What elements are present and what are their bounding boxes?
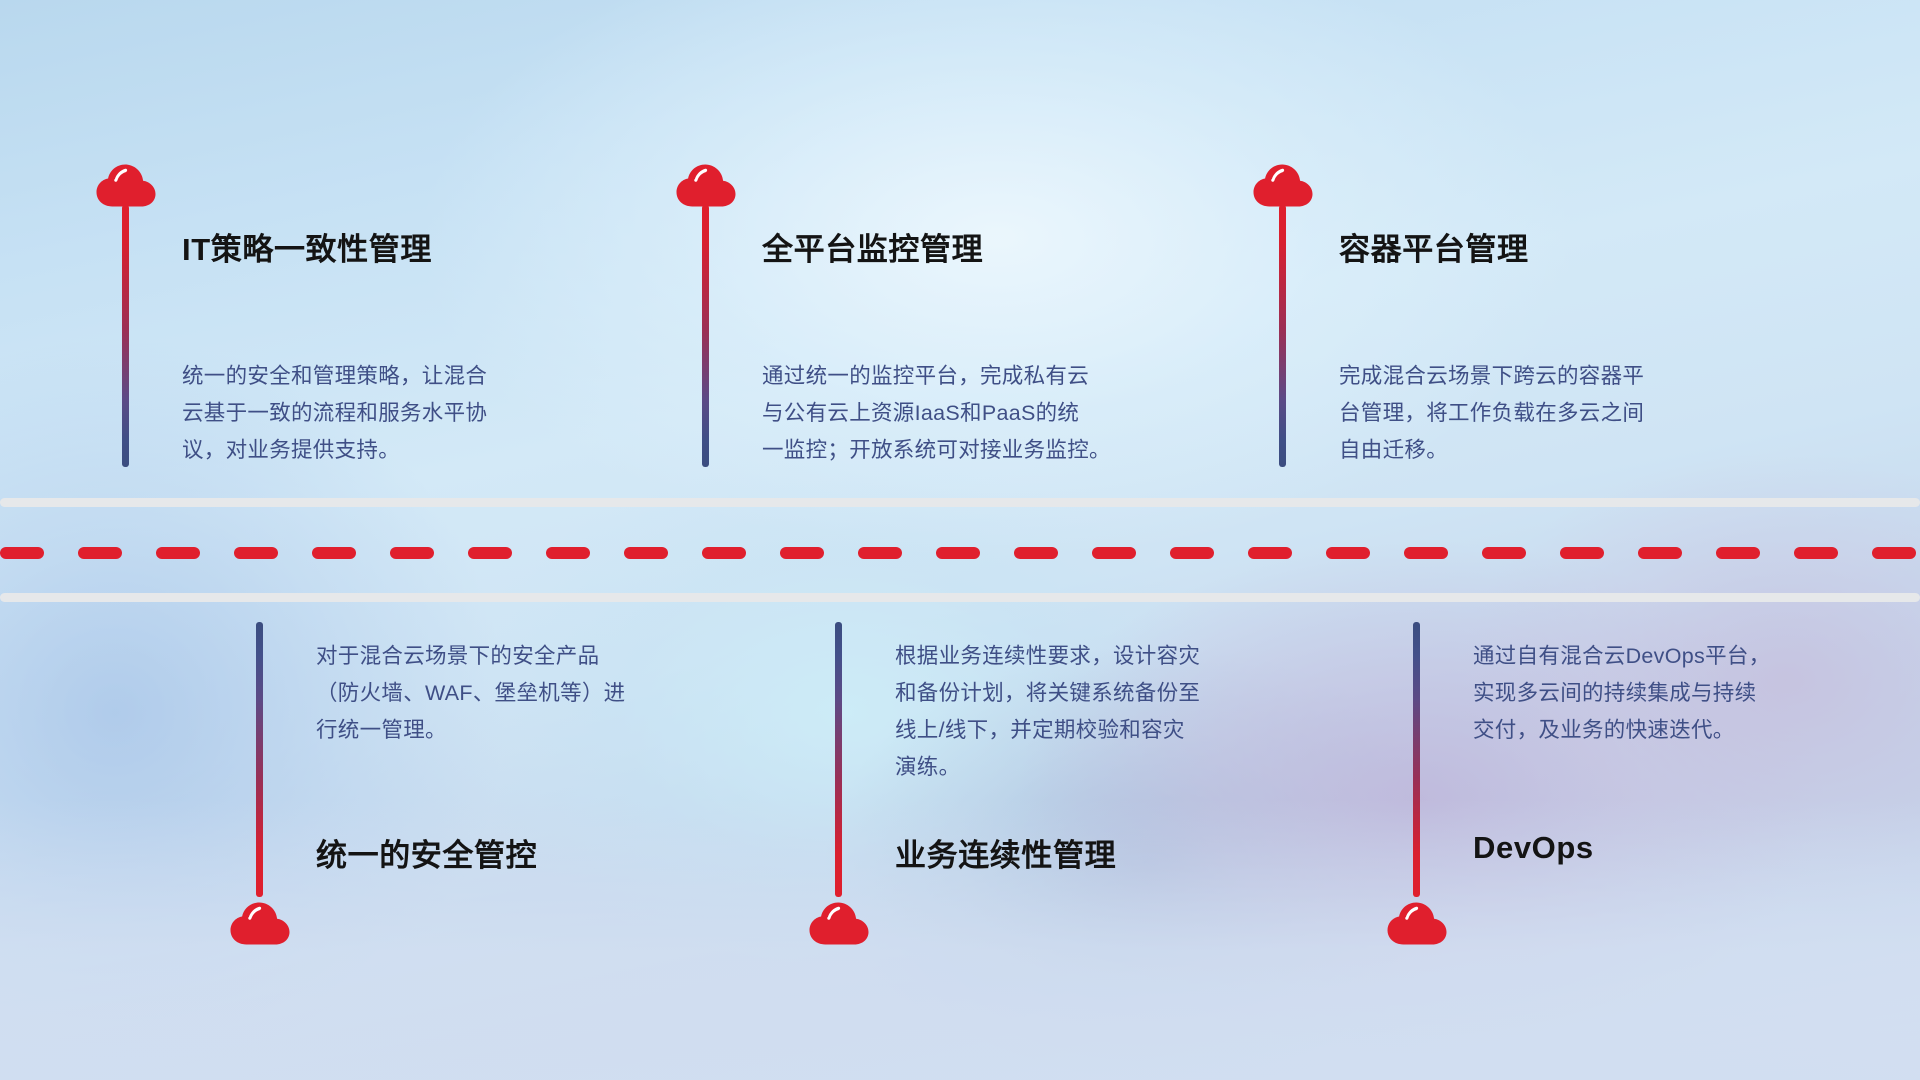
divider-dash bbox=[390, 547, 434, 559]
cloud-icon bbox=[1386, 898, 1448, 946]
divider-dash bbox=[468, 547, 512, 559]
card-heading: IT策略一致性管理 bbox=[182, 224, 432, 269]
divider-dash bbox=[1092, 547, 1136, 559]
divider-dash bbox=[1482, 547, 1526, 559]
body-line: 与公有云上资源IaaS和PaaS的统 bbox=[762, 395, 1102, 432]
divider-dash bbox=[1560, 547, 1604, 559]
card-body: 对于混合云场景下的安全产品 （防火墙、WAF、堡垒机等）进 行统一管理。 bbox=[316, 638, 656, 749]
cloud-icon bbox=[1252, 160, 1314, 208]
divider-dash bbox=[1638, 547, 1682, 559]
card-heading: 统一的安全管控 bbox=[316, 830, 537, 875]
connector-stem bbox=[835, 622, 842, 897]
card-body: 通过统一的监控平台，完成私有云 与公有云上资源IaaS和PaaS的统 一监控；开… bbox=[762, 358, 1102, 469]
connector-stem bbox=[256, 622, 263, 897]
card-body: 根据业务连续性要求，设计容灾 和备份计划，将关键系统备份至 线上/线下，并定期校… bbox=[895, 638, 1235, 786]
body-line: 和备份计划，将关键系统备份至 bbox=[895, 675, 1235, 712]
divider-dash bbox=[1326, 547, 1370, 559]
body-line: 通过统一的监控平台，完成私有云 bbox=[762, 358, 1102, 395]
divider-dash bbox=[312, 547, 356, 559]
divider-dash bbox=[546, 547, 590, 559]
body-line: 演练。 bbox=[895, 749, 1235, 786]
body-line: 台管理，将工作负载在多云之间 bbox=[1339, 395, 1679, 432]
body-line: 对于混合云场景下的安全产品 bbox=[316, 638, 656, 675]
connector-stem bbox=[702, 205, 709, 467]
body-line: 通过自有混合云DevOps平台， bbox=[1473, 638, 1813, 675]
card-body: 通过自有混合云DevOps平台， 实现多云间的持续集成与持续 交付，及业务的快速… bbox=[1473, 638, 1813, 749]
divider-dash bbox=[936, 547, 980, 559]
body-line: 云基于一致的流程和服务水平协 bbox=[182, 395, 522, 432]
body-line: 根据业务连续性要求，设计容灾 bbox=[895, 638, 1235, 675]
body-line: 行统一管理。 bbox=[316, 712, 656, 749]
divider-dash bbox=[1014, 547, 1058, 559]
card-body: 完成混合云场景下跨云的容器平 台管理，将工作负载在多云之间 自由迁移。 bbox=[1339, 358, 1679, 469]
divider-dash bbox=[1716, 547, 1760, 559]
body-line: 实现多云间的持续集成与持续 bbox=[1473, 675, 1813, 712]
divider-dash bbox=[1872, 547, 1916, 559]
cloud-icon bbox=[808, 898, 870, 946]
body-line: 一监控；开放系统可对接业务监控。 bbox=[762, 432, 1102, 469]
divider-dash bbox=[624, 547, 668, 559]
divider-dash bbox=[1170, 547, 1214, 559]
body-line: 完成混合云场景下跨云的容器平 bbox=[1339, 358, 1679, 395]
divider-rule-top bbox=[0, 498, 1920, 507]
divider-dash bbox=[156, 547, 200, 559]
infographic-canvas: IT策略一致性管理 统一的安全和管理策略，让混合 云基于一致的流程和服务水平协 … bbox=[0, 0, 1920, 1080]
card-heading: DevOps bbox=[1473, 830, 1594, 866]
divider-dash bbox=[1248, 547, 1292, 559]
card-heading: 全平台监控管理 bbox=[762, 224, 983, 269]
divider-dash bbox=[1794, 547, 1838, 559]
body-line: 议，对业务提供支持。 bbox=[182, 432, 522, 469]
divider-rule-bottom bbox=[0, 593, 1920, 602]
connector-stem bbox=[1279, 205, 1286, 467]
card-heading: 容器平台管理 bbox=[1339, 224, 1529, 269]
section-divider bbox=[0, 498, 1920, 602]
divider-dash bbox=[234, 547, 278, 559]
body-line: 交付，及业务的快速迭代。 bbox=[1473, 712, 1813, 749]
card-heading: 业务连续性管理 bbox=[895, 830, 1116, 875]
body-line: 自由迁移。 bbox=[1339, 432, 1679, 469]
divider-dash bbox=[780, 547, 824, 559]
divider-dash bbox=[702, 547, 746, 559]
divider-dash bbox=[1404, 547, 1448, 559]
cloud-icon bbox=[229, 898, 291, 946]
body-line: 统一的安全和管理策略，让混合 bbox=[182, 358, 522, 395]
cloud-icon bbox=[95, 160, 157, 208]
divider-dash bbox=[858, 547, 902, 559]
divider-dashed-line bbox=[0, 547, 1920, 559]
divider-dash bbox=[78, 547, 122, 559]
connector-stem bbox=[122, 205, 129, 467]
body-line: 线上/线下，并定期校验和容灾 bbox=[895, 712, 1235, 749]
card-body: 统一的安全和管理策略，让混合 云基于一致的流程和服务水平协 议，对业务提供支持。 bbox=[182, 358, 522, 469]
connector-stem bbox=[1413, 622, 1420, 897]
body-line: （防火墙、WAF、堡垒机等）进 bbox=[316, 675, 656, 712]
cloud-icon bbox=[675, 160, 737, 208]
divider-dash bbox=[0, 547, 44, 559]
